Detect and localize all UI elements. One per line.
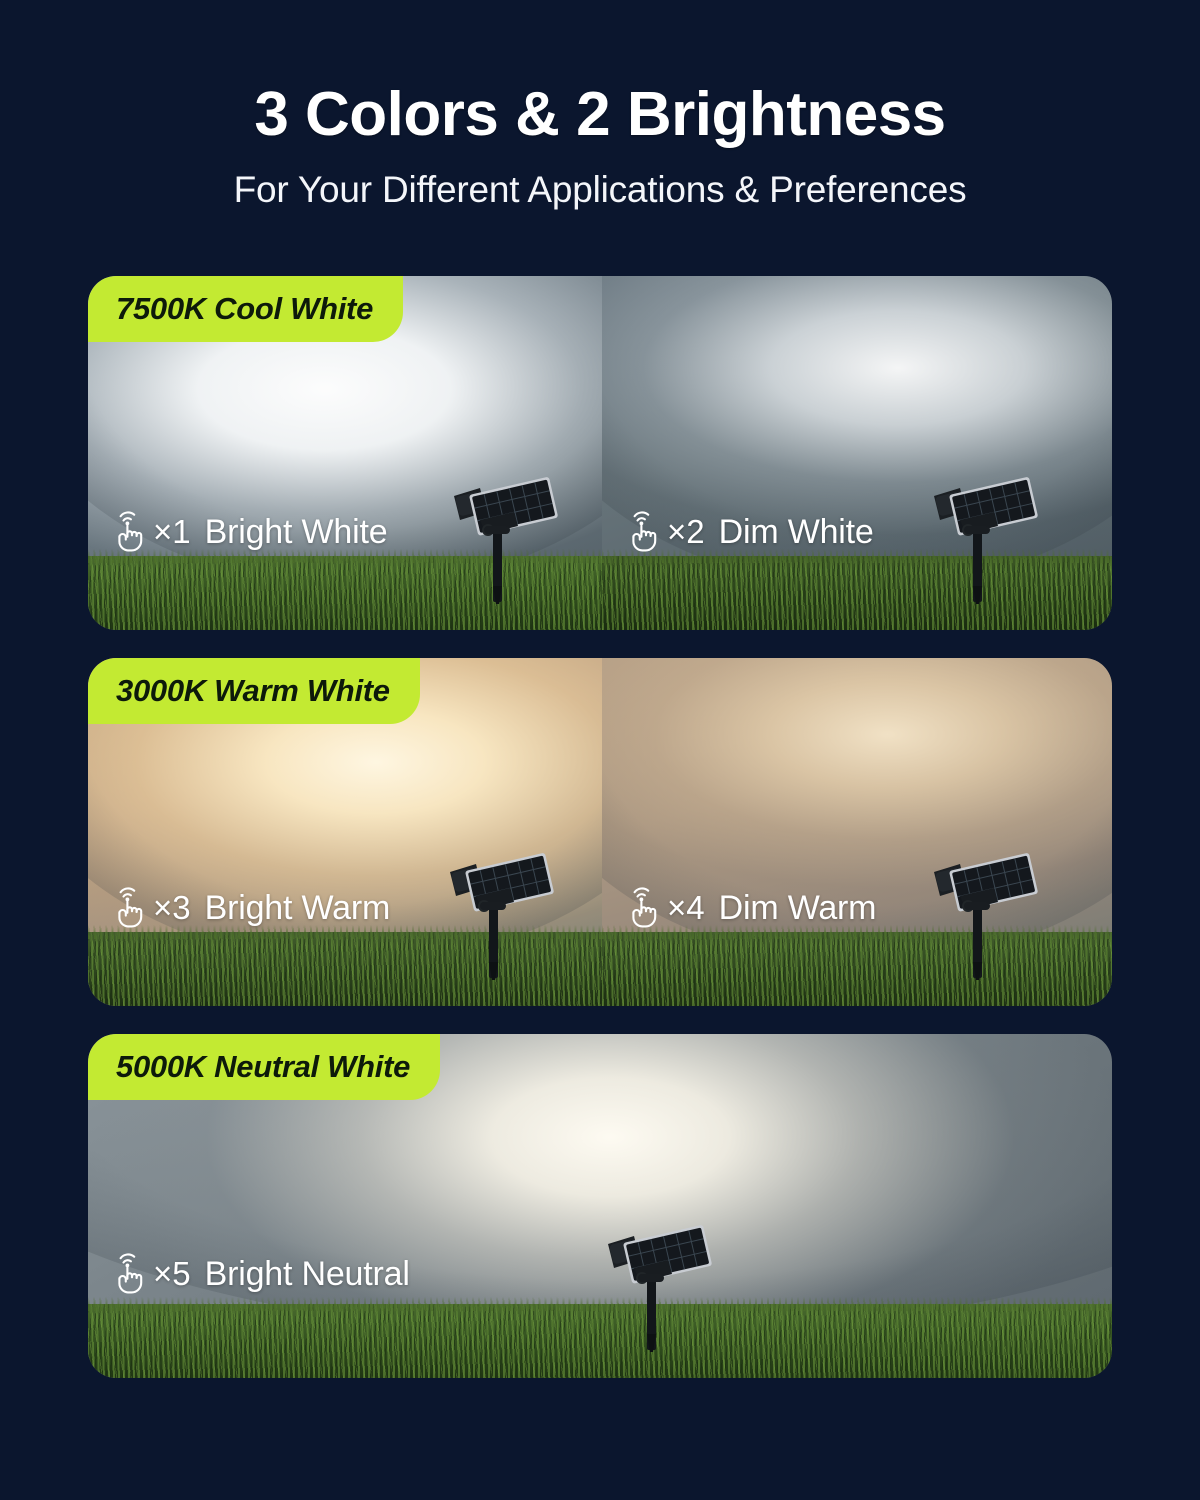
scene-dim-white: ×2 Dim White: [602, 276, 1112, 630]
tap-hand-icon: [624, 510, 664, 554]
tap-count: ×5: [153, 1255, 191, 1293]
solar-spotlight-icon: [594, 1216, 714, 1352]
tap-count: ×1: [153, 513, 191, 551]
tap-label: ×1 Bright White: [110, 510, 387, 554]
badge-label: 3000K Warm White: [116, 673, 390, 709]
solar-spotlight-icon: [920, 844, 1040, 980]
tap-count: ×3: [153, 889, 191, 927]
tap-mode-name: Dim Warm: [719, 889, 877, 928]
tap-mode-name: Dim White: [719, 513, 874, 552]
tap-hand-icon: [110, 510, 150, 554]
card-neutral-white: ×5 Bright Neutral 5000K Neutral White: [88, 1034, 1112, 1378]
mode-cards: ×1 Bright White: [88, 276, 1112, 1406]
solar-spotlight-icon: [440, 468, 560, 604]
tap-mode-name: Bright Warm: [205, 889, 390, 928]
tap-hand-icon: [110, 1252, 150, 1296]
badge-label: 7500K Cool White: [116, 291, 373, 327]
promo-page: 3 Colors & 2 Brightness For Your Differe…: [0, 0, 1200, 1500]
tap-count: ×4: [667, 889, 705, 927]
page-subtitle: For Your Different Applications & Prefer…: [0, 169, 1200, 211]
tap-label: ×3 Bright Warm: [110, 886, 390, 930]
tap-hand-icon: [624, 886, 664, 930]
badge-neutral-white: 5000K Neutral White: [88, 1034, 440, 1100]
tap-label: ×4 Dim Warm: [624, 886, 876, 930]
tap-hand-icon: [110, 886, 150, 930]
page-title: 3 Colors & 2 Brightness: [0, 82, 1200, 147]
solar-spotlight-icon: [436, 844, 556, 980]
badge-cool-white: 7500K Cool White: [88, 276, 403, 342]
solar-spotlight-icon: [920, 468, 1040, 604]
badge-warm-white: 3000K Warm White: [88, 658, 420, 724]
tap-mode-name: Bright Neutral: [205, 1255, 410, 1294]
tap-label: ×5 Bright Neutral: [110, 1252, 410, 1296]
scene-dim-warm: ×4 Dim Warm: [602, 658, 1112, 1006]
card-cool-white: ×1 Bright White: [88, 276, 1112, 630]
badge-label: 5000K Neutral White: [116, 1049, 410, 1085]
tap-label: ×2 Dim White: [624, 510, 874, 554]
tap-count: ×2: [667, 513, 705, 551]
card-warm-white: ×3 Bright Warm: [88, 658, 1112, 1006]
tap-mode-name: Bright White: [205, 513, 388, 552]
header: 3 Colors & 2 Brightness For Your Differe…: [0, 0, 1200, 211]
